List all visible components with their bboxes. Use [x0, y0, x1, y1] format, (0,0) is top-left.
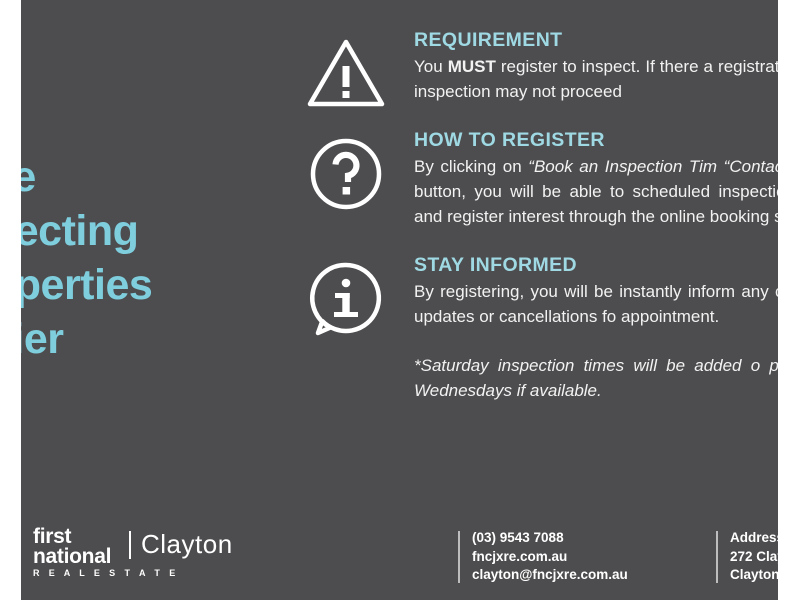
address-details: Address: 272 Clayt Clayton V — [716, 529, 778, 585]
text-run-bold: MUST — [448, 57, 496, 76]
question-circle-icon — [304, 132, 388, 216]
content-column: REQUIREMENT You MUST register to inspect… — [304, 28, 778, 403]
text-run: By clicking on — [414, 157, 528, 176]
address-divider — [716, 531, 718, 583]
text-run-italic: “Book an Inspection Tim — [528, 157, 717, 176]
saturday-note: *Saturday inspection times will be added… — [414, 353, 778, 403]
headline-line-3: operties — [21, 258, 249, 312]
poster-canvas: ke pecting operties sier REQUIREMENT — [0, 0, 800, 600]
address-line-2: Clayton V — [730, 566, 778, 585]
footer: first national R E A L E S T A T E Clayt… — [21, 505, 778, 600]
text-run-italic: “Contact Agent” — [724, 157, 778, 176]
headline-line-4: sier — [21, 312, 249, 366]
headline-line-1: ke — [21, 150, 249, 204]
text-run: You — [414, 57, 448, 76]
headline-line-2: pecting — [21, 204, 249, 258]
dark-content-panel: ke pecting operties sier REQUIREMENT — [21, 0, 778, 600]
section-title: HOW TO REGISTER — [414, 128, 778, 152]
section-how-to-register: HOW TO REGISTER By clicking on “Book an … — [304, 128, 778, 229]
logo-tagline: R E A L E S T A T E — [33, 567, 179, 579]
section-stay-informed-body: STAY INFORMED By registering, you will b… — [414, 253, 778, 329]
headline: ke pecting operties sier — [21, 150, 249, 366]
contact-phone[interactable]: (03) 9543 7088 — [472, 529, 628, 548]
section-title: REQUIREMENT — [414, 28, 778, 52]
contact-details: (03) 9543 7088 fncjxre.com.au clayton@fn… — [458, 529, 628, 585]
contact-divider — [458, 531, 460, 583]
section-stay-informed: STAY INFORMED By registering, you will b… — [304, 253, 778, 329]
contact-email[interactable]: clayton@fncjxre.com.au — [472, 566, 628, 585]
section-title: STAY INFORMED — [414, 253, 778, 277]
text-run: button, you will be able to scheduled in… — [414, 182, 778, 226]
contact-website[interactable]: fncjxre.com.au — [472, 548, 628, 567]
logo-branch-name: Clayton — [141, 531, 233, 557]
section-requirement: REQUIREMENT You MUST register to inspect… — [304, 28, 778, 104]
section-how-to-register-body: HOW TO REGISTER By clicking on “Book an … — [414, 128, 778, 229]
section-text: By registering, you will be instantly in… — [414, 279, 778, 329]
logo-divider — [129, 531, 131, 559]
section-text: By clicking on “Book an Inspection Tim “… — [414, 154, 778, 229]
warning-triangle-icon — [304, 32, 388, 116]
text-run: register to inspect. If there a — [496, 57, 713, 76]
address-line-1: 272 Clayt — [730, 548, 778, 567]
section-requirement-body: REQUIREMENT You MUST register to inspect… — [414, 28, 778, 104]
section-text: You MUST register to inspect. If there a… — [414, 54, 778, 104]
info-speech-bubble-icon — [304, 257, 388, 341]
address-label: Address: — [730, 529, 778, 548]
